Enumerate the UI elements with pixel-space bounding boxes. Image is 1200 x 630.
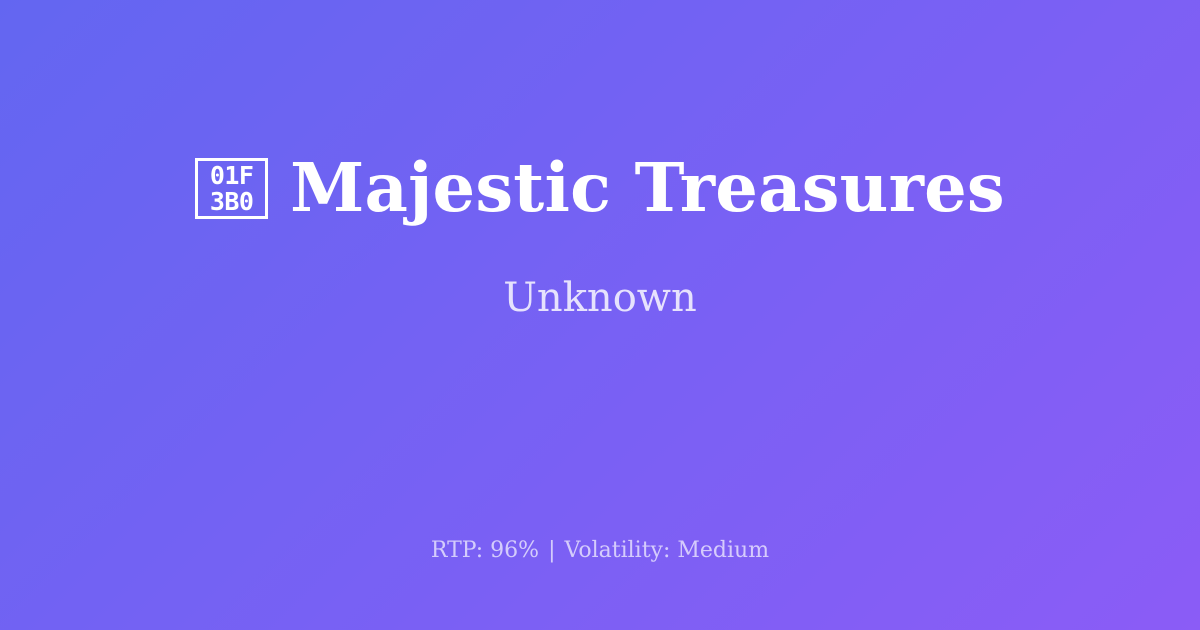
meta-separator: | — [548, 538, 555, 564]
volatility-value: Volatility: Medium — [565, 538, 770, 564]
card-footer: RTP: 96% | Volatility: Medium — [0, 538, 1200, 564]
provider-label: Unknown — [503, 276, 697, 320]
tofu-codepoint-top: 01F — [210, 163, 254, 189]
slot-machine-icon: 01F 3B0 — [195, 158, 268, 219]
tofu-codepoint-bottom: 3B0 — [210, 189, 254, 215]
og-share-card: 01F 3B0 Majestic Treasures Unknown RTP: … — [0, 0, 1200, 630]
title-row: 01F 3B0 Majestic Treasures — [40, 152, 1160, 223]
rtp-value: RTP: 96% — [431, 538, 539, 564]
page-title: Majestic Treasures — [290, 152, 1005, 223]
card-body: 01F 3B0 Majestic Treasures Unknown — [0, 0, 1200, 472]
